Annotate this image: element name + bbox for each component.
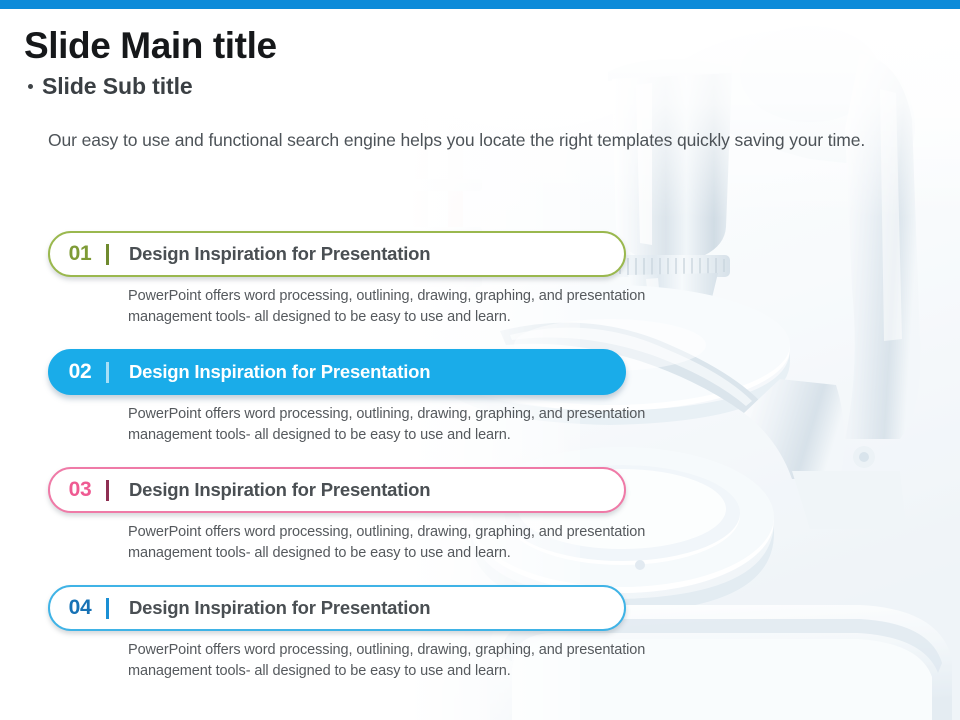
item-divider-icon [106, 480, 109, 501]
list-item: 03 Design Inspiration for Presentation P… [48, 467, 648, 563]
item-divider-icon [106, 598, 109, 619]
title-block: Slide Main title Slide Sub title [24, 26, 724, 100]
item-pill-03[interactable]: 03 Design Inspiration for Presentation [48, 467, 626, 513]
sub-title-row: Slide Sub title [28, 73, 724, 100]
item-number-03: 03 [50, 478, 106, 502]
item-title-02: Design Inspiration for Presentation [129, 361, 430, 383]
item-pill-01[interactable]: 01 Design Inspiration for Presentation [48, 231, 626, 277]
item-number-01: 01 [50, 242, 106, 266]
page-title: Slide Main title [24, 26, 724, 66]
item-pill-04[interactable]: 04 Design Inspiration for Presentation [48, 585, 626, 631]
item-number-02: 02 [50, 360, 106, 384]
item-description-01: PowerPoint offers word processing, outli… [128, 286, 668, 327]
item-description-03: PowerPoint offers word processing, outli… [128, 522, 668, 563]
intro-paragraph: Our easy to use and functional search en… [48, 127, 878, 153]
item-number-04: 04 [50, 596, 106, 620]
item-divider-icon [106, 362, 109, 383]
slide-content: Slide Main title Slide Sub title Our eas… [0, 0, 960, 720]
item-title-03: Design Inspiration for Presentation [129, 479, 430, 501]
page-subtitle: Slide Sub title [42, 73, 193, 100]
bullet-icon [28, 84, 33, 89]
item-description-02: PowerPoint offers word processing, outli… [128, 404, 668, 445]
list-item: 01 Design Inspiration for Presentation P… [48, 231, 648, 327]
item-description-04: PowerPoint offers word processing, outli… [128, 640, 668, 681]
slide: Slide Main title Slide Sub title Our eas… [0, 0, 960, 720]
item-pill-02[interactable]: 02 Design Inspiration for Presentation [48, 349, 626, 395]
list-item: 04 Design Inspiration for Presentation P… [48, 585, 648, 681]
list-item: 02 Design Inspiration for Presentation P… [48, 349, 648, 445]
item-title-04: Design Inspiration for Presentation [129, 597, 430, 619]
item-divider-icon [106, 244, 109, 265]
item-title-01: Design Inspiration for Presentation [129, 243, 430, 265]
item-list: 01 Design Inspiration for Presentation P… [48, 231, 648, 682]
